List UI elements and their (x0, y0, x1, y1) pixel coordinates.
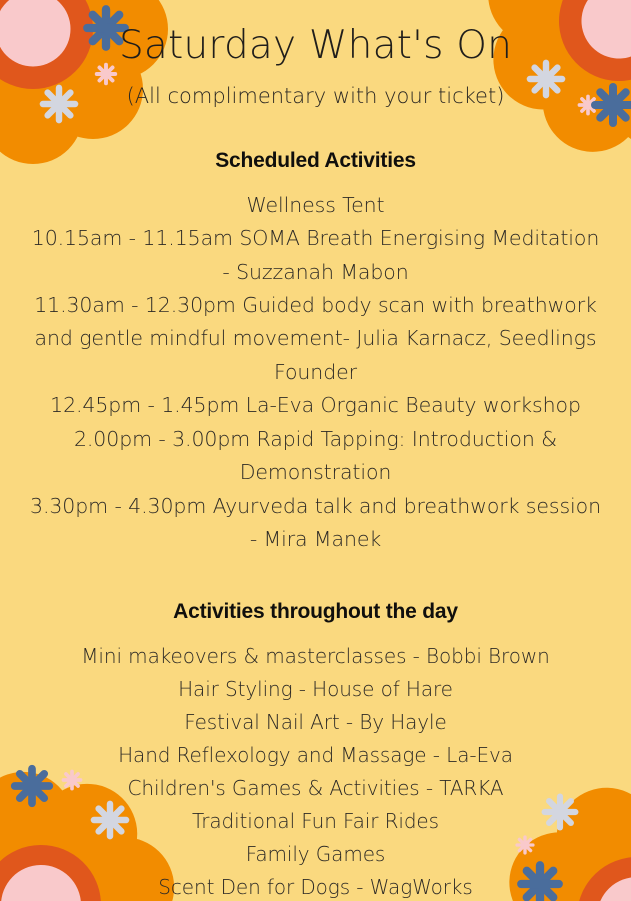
scheduled-activities-list: Wellness Tent 10.15am - 11.15am SOMA Bre… (18, 189, 613, 556)
section-scheduled-activities: Scheduled Activities Wellness Tent 10.15… (18, 109, 613, 556)
list-item: 3.30pm - 4.30pm Ayurveda talk and breath… (18, 490, 613, 557)
list-item: Traditional Fun Fair Rides (18, 805, 613, 838)
list-item: Hand Reflexology and Massage - La-Eva (18, 739, 613, 772)
poster-content: Saturday What's On (All complimentary wi… (0, 0, 631, 901)
list-item: Hair Styling - House of Hare (18, 673, 613, 706)
page-title: Saturday What's On (18, 0, 613, 68)
list-item: 10.15am - 11.15am SOMA Breath Energising… (18, 222, 613, 289)
list-item: Scent Den for Dogs - WagWorks (18, 871, 613, 901)
list-item: 11.30am - 12.30pm Guided body scan with … (18, 289, 613, 389)
list-item: Mini makeovers & masterclasses - Bobbi B… (18, 640, 613, 673)
allday-activities-list: Mini makeovers & masterclasses - Bobbi B… (18, 640, 613, 901)
section-allday-activities: Activities throughout the day Mini makeo… (18, 556, 613, 901)
list-item: 12.45pm - 1.45pm La-Eva Organic Beauty w… (18, 389, 613, 422)
section-heading-allday: Activities throughout the day (18, 600, 613, 624)
list-item: Family Games (18, 838, 613, 871)
poster-root: Saturday What's On (All complimentary wi… (0, 0, 631, 901)
list-item: 2.00pm - 3.00pm Rapid Tapping: Introduct… (18, 423, 613, 490)
list-item: Children's Games & Activities - TARKA (18, 772, 613, 805)
list-item: Wellness Tent (18, 189, 613, 222)
section-heading-scheduled: Scheduled Activities (18, 149, 613, 173)
poster-subtitle: (All complimentary with your ticket) (18, 68, 613, 109)
list-item: Festival Nail Art - By Hayle (18, 706, 613, 739)
